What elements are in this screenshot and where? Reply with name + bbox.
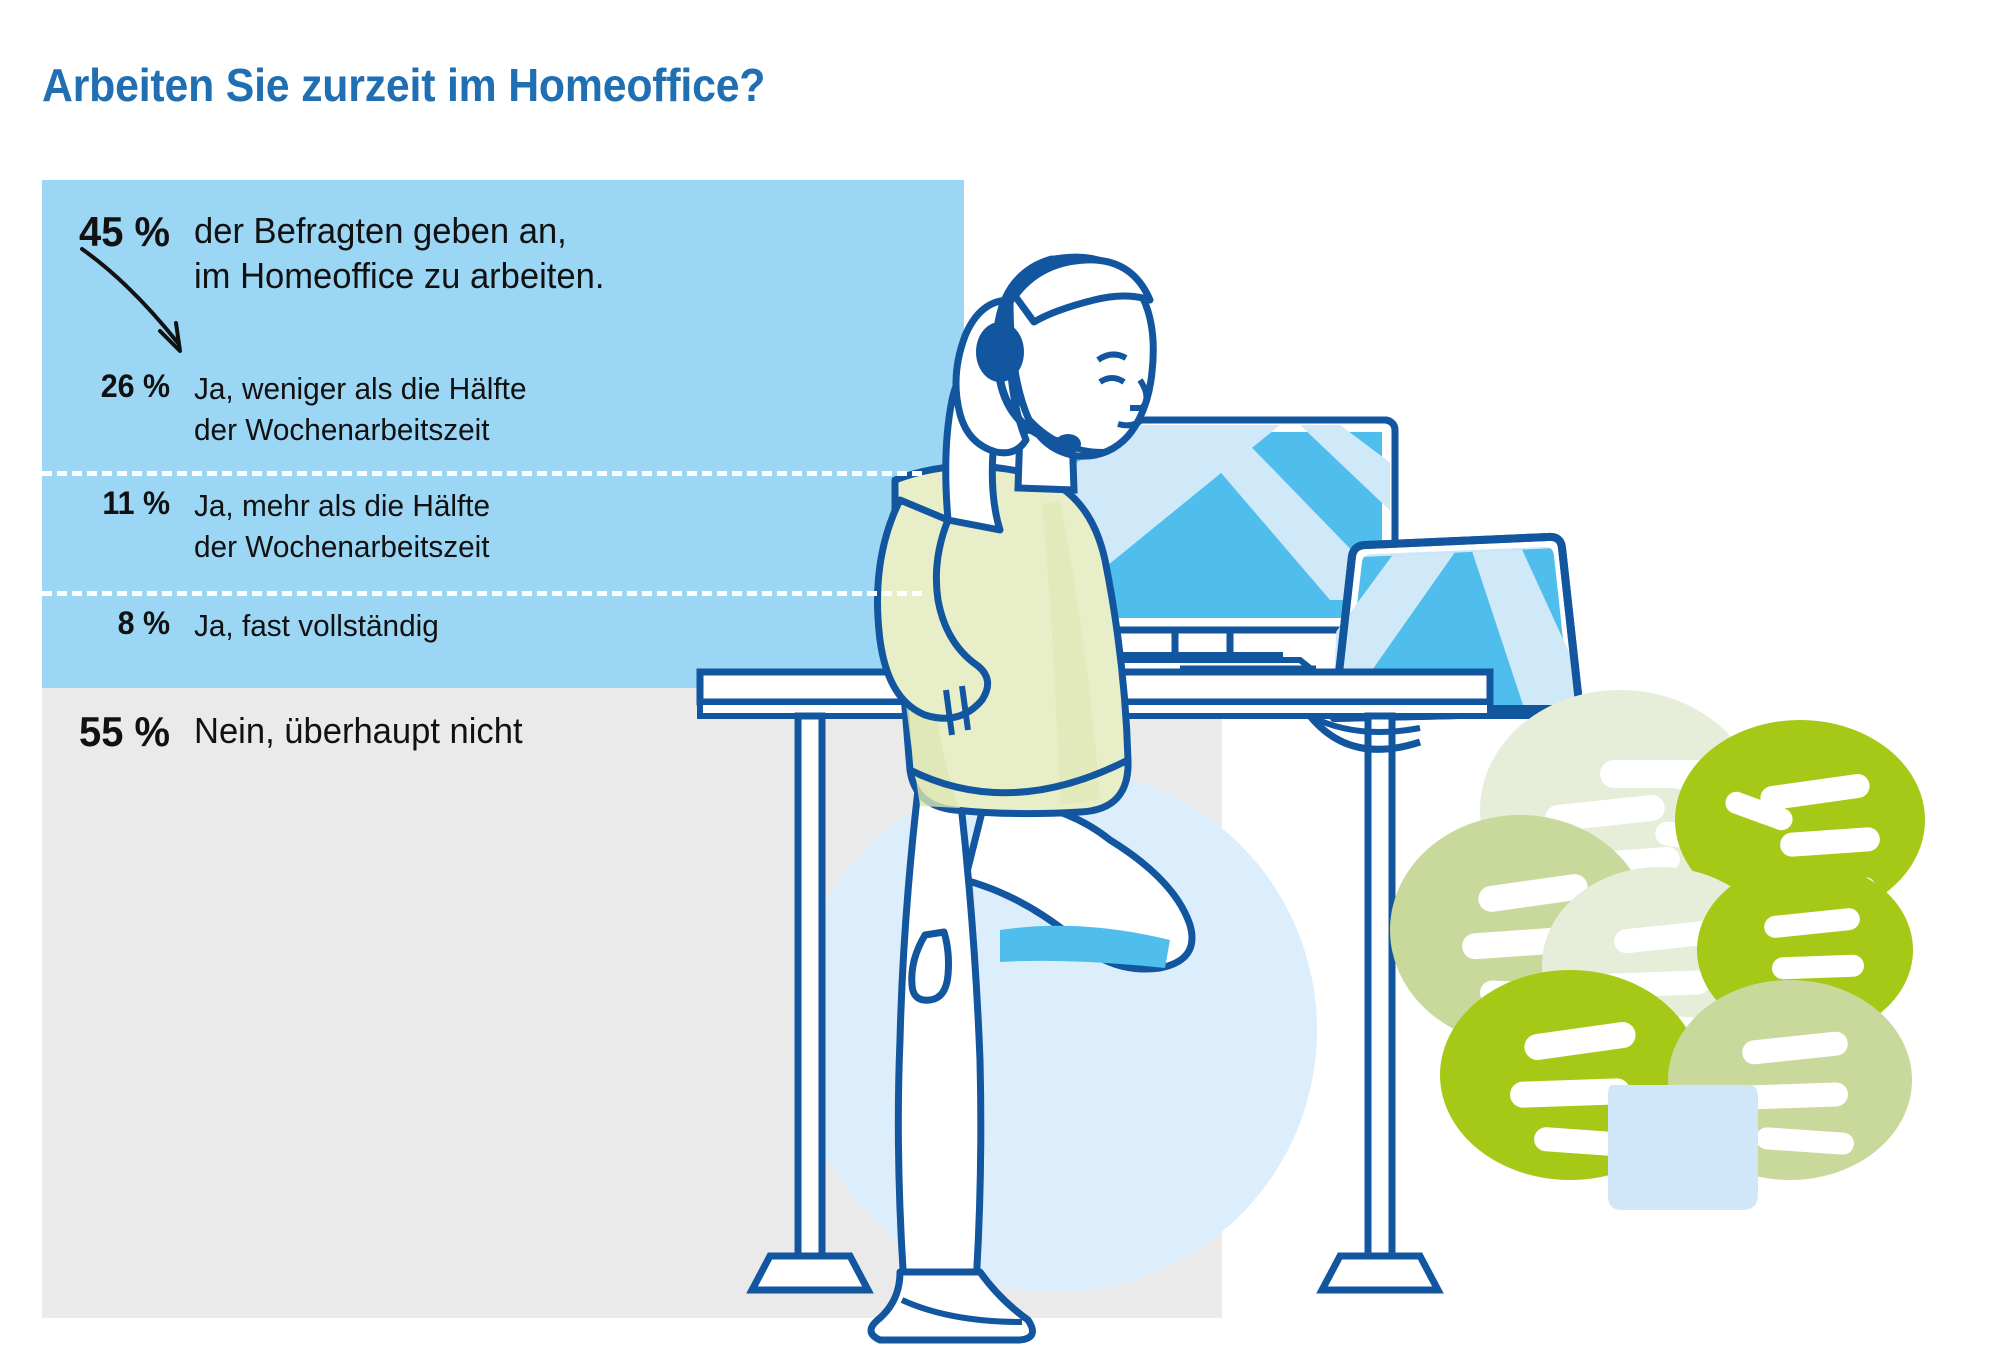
stat-percent-less-than-half: 26 % xyxy=(67,368,170,405)
infographic-root: Arbeiten Sie zurzeit im Homeoffice? 45 %… xyxy=(0,0,1990,1358)
stat-row-more-than-half: 11 % Ja, mehr als die Hälfte der Wochena… xyxy=(62,485,502,567)
stat-label-no: Nein, überhaupt nicht xyxy=(194,708,523,753)
divider-1 xyxy=(42,471,922,476)
stat-label-more-than-half: Ja, mehr als die Hälfte der Wochenarbeit… xyxy=(194,485,490,567)
divider-2 xyxy=(42,591,922,596)
stat-label-less-than-half: Ja, weniger als die Hälfte der Wochenarb… xyxy=(194,368,526,450)
stat-row-almost-completely: 8 % Ja, fast vollständig xyxy=(62,605,449,646)
stat-row-no: 55 % Nein, überhaupt nicht xyxy=(42,708,536,756)
page-title: Arbeiten Sie zurzeit im Homeoffice? xyxy=(42,58,765,112)
stat-percent-almost-completely: 8 % xyxy=(67,605,170,642)
stat-percent-no: 55 % xyxy=(48,708,170,756)
stat-label-yes-total: der Befragten geben an, im Homeoffice zu… xyxy=(194,208,604,299)
stat-percent-more-than-half: 11 % xyxy=(67,485,170,522)
monstera-plant xyxy=(1390,690,1925,1210)
curved-arrow-icon xyxy=(60,235,240,375)
stat-label-almost-completely: Ja, fast vollständig xyxy=(194,605,439,646)
plant-pot xyxy=(1608,1085,1758,1210)
office-illustration xyxy=(0,0,1990,1358)
stat-row-less-than-half: 26 % Ja, weniger als die Hälfte der Woch… xyxy=(62,368,540,450)
